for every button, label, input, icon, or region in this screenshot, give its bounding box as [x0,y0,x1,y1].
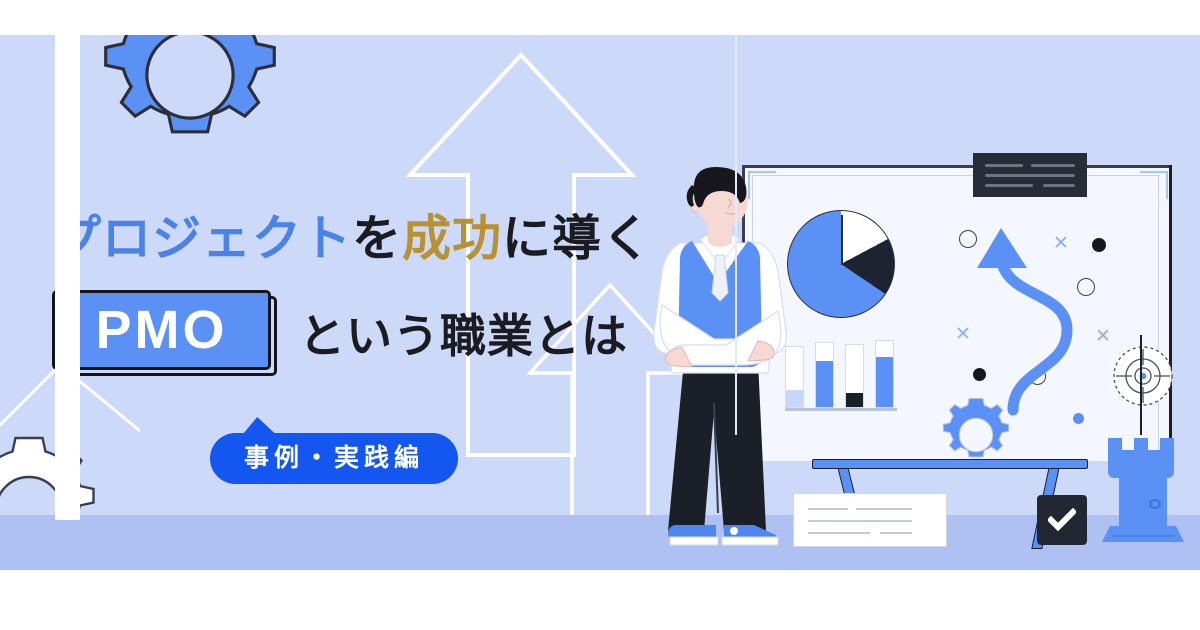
pmo-badge-box: PMO [52,290,271,370]
bar-chart-axis [785,408,897,411]
headline-part-wo: を [352,212,402,266]
whiteboard-inner-line [752,175,1160,176]
crosshair-icon [1112,345,1174,407]
bar-chart [785,339,897,411]
bar-track [875,340,894,408]
desk-top [812,459,1088,469]
whiteboard-frame-right [1169,165,1172,461]
whiteboard-frame-top [742,165,1172,168]
headline-part-project: プロジェクト [52,212,352,266]
headline-line-1: プロジェクトを成功に導く [52,213,672,267]
gear-top-left-icon [92,35,288,173]
card-text-line [1031,164,1075,167]
note-text-line [808,520,912,522]
card-text-line [1043,184,1075,187]
headline-occupation-text: という職業とは [299,300,628,366]
badge-pill: 事例・実践編 [210,433,458,484]
x-mark-icon: ✕ [955,325,971,344]
card-text-line [985,174,1075,177]
pmo-badge: PMO [52,290,277,376]
letterbox-top [0,0,1200,35]
category-badge: 事例・実践編 [210,433,458,484]
arrow-curve-up-icon [975,220,1095,425]
bar-track [845,344,864,408]
bar-track [815,342,834,408]
card-text-line [985,184,1033,187]
letterbox-notch [55,35,80,520]
badge-label: 事例・実践編 [244,444,424,472]
dark-info-card [973,153,1087,197]
bar-value-4 [876,357,893,407]
headline-part-success: 成功 [402,212,502,266]
check-icon [1048,508,1076,532]
bar-value-2 [816,361,833,407]
artboard: ✕ ✕ ✕ ✕ [0,35,1200,570]
note-text-line [880,532,912,534]
card-text-line [985,164,1023,167]
note-text-line [808,532,870,534]
headline-part-lead: に導く [502,212,652,266]
vertical-separator [735,35,737,435]
check-tile [1037,495,1087,545]
x-mark-icon: ✕ [1095,327,1111,346]
pmo-label: PMO [95,303,227,357]
bar-value-3 [846,393,863,407]
headline-line-2: PMO という職業とは [52,290,628,376]
note-text-line [856,508,912,510]
letterbox-bottom [0,570,1200,630]
chess-rook-icon [1100,430,1186,550]
pointer-stick [1140,335,1142,435]
hero-banner: ✕ ✕ ✕ ✕ [0,0,1200,630]
floor-band [0,515,1200,570]
note-text-line [808,508,848,510]
pie-slice-divider [841,215,843,265]
note-card [793,493,947,547]
whiteboard-inner-line [1158,175,1159,451]
corner-marker [1140,171,1168,199]
